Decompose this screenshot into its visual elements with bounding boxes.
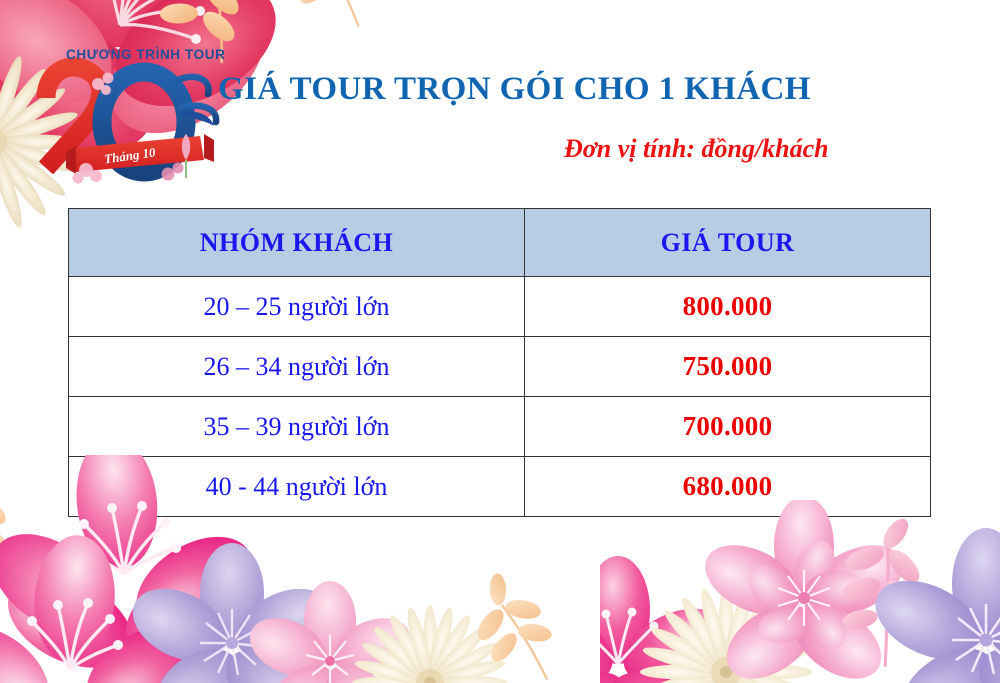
bottom-right-floral-decoration bbox=[600, 500, 1000, 683]
cell-group: 20 – 25 người lớn bbox=[69, 277, 525, 337]
page-title: GIÁ TOUR TRỌN GÓI CHO 1 KHÁCH bbox=[218, 71, 811, 108]
table-row: 26 – 34 người lớn 750.000 bbox=[69, 337, 931, 397]
table-header-row: NHÓM KHÁCH GIÁ TOUR bbox=[69, 209, 931, 277]
table-row: 40 - 44 người lớn 680.000 bbox=[69, 457, 931, 517]
table-row: 20 – 25 người lớn 800.000 bbox=[69, 277, 931, 337]
cell-group: 40 - 44 người lớn bbox=[69, 457, 525, 517]
cell-price: 700.000 bbox=[525, 397, 931, 457]
logo-program-label: CHƯƠNG TRÌNH TOUR bbox=[66, 47, 225, 62]
cell-price: 680.000 bbox=[525, 457, 931, 517]
cell-group: 26 – 34 người lớn bbox=[69, 337, 525, 397]
column-header-group: NHÓM KHÁCH bbox=[69, 209, 525, 277]
slide-canvas: CHƯƠNG TRÌNH TOUR Tháng 10 GIÁ TOUR TRỌN… bbox=[0, 0, 1000, 683]
logo-anniversary-numerals bbox=[28, 50, 228, 190]
cell-group: 35 – 39 người lớn bbox=[69, 397, 525, 457]
cell-price: 800.000 bbox=[525, 277, 931, 337]
tour-price-table: NHÓM KHÁCH GIÁ TOUR 20 – 25 người lớn 80… bbox=[68, 208, 931, 517]
cell-price: 750.000 bbox=[525, 337, 931, 397]
tour-program-logo: CHƯƠNG TRÌNH TOUR Tháng 10 bbox=[28, 36, 228, 196]
price-unit-subtitle: Đơn vị tính: đồng/khách bbox=[564, 134, 829, 164]
table-row: 35 – 39 người lớn 700.000 bbox=[69, 397, 931, 457]
column-header-price: GIÁ TOUR bbox=[525, 209, 931, 277]
